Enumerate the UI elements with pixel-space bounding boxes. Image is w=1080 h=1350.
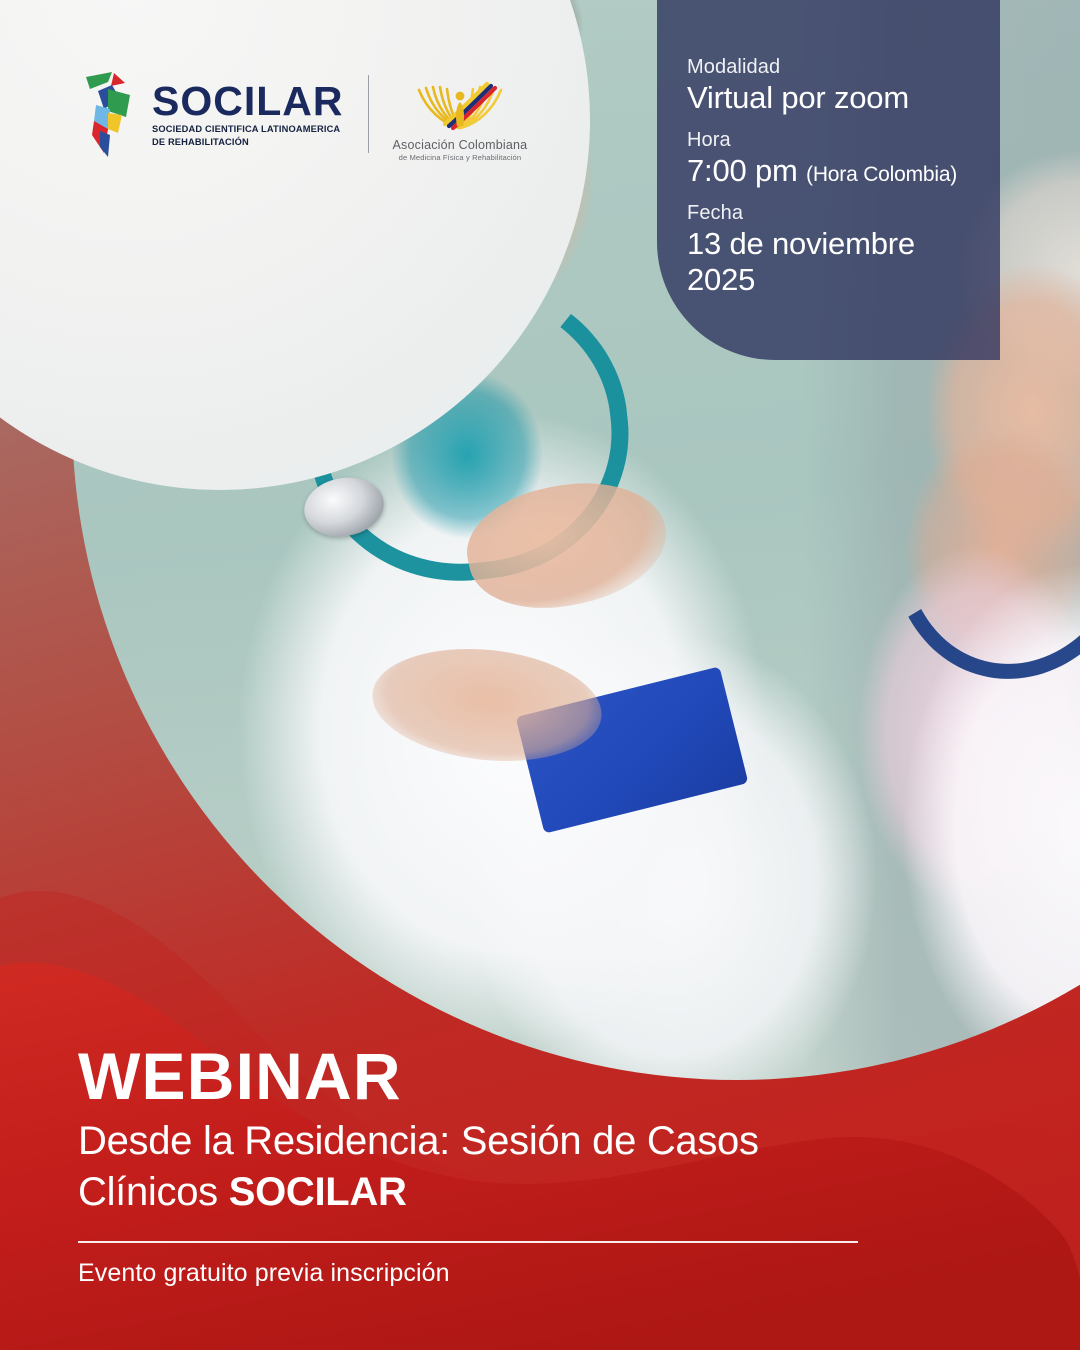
webinar-title-line2: Clínicos SOCILAR [78, 1169, 978, 1215]
hora-value: 7:00 pm (Hora Colombia) [687, 153, 1000, 189]
detail-hora: Hora 7:00 pm (Hora Colombia) [687, 128, 1000, 189]
socilar-logo: SOCILAR SOCIEDAD CIENTIFICA LATINOAMERIC… [78, 69, 344, 159]
fecha-day-month: 13 de noviembre [687, 226, 1000, 262]
title-line2-normal: Clínicos [78, 1170, 229, 1214]
partner-name: Asociación Colombiana [393, 138, 528, 152]
logo-lockup: SOCILAR SOCIEDAD CIENTIFICA LATINOAMERIC… [78, 66, 527, 162]
hora-timezone: (Hora Colombia) [806, 163, 957, 186]
logo-divider [368, 75, 369, 153]
latin-america-map-icon [78, 69, 144, 159]
hora-label: Hora [687, 128, 1000, 153]
registration-note: Evento gratuito previa inscripción [78, 1259, 978, 1288]
detail-fecha: Fecha 13 de noviembre 2025 [687, 201, 1000, 298]
webinar-kicker: WEBINAR [78, 1045, 978, 1108]
partner-subtitle: de Medicina Física y Rehabilitación [399, 153, 522, 162]
asociacion-colombiana-logo: Asociación Colombiana de Medicina Física… [393, 66, 528, 162]
fecha-value: 13 de noviembre 2025 [687, 226, 1000, 298]
socilar-wordmark: SOCILAR [152, 81, 344, 122]
socilar-tagline-2: DE REHABILITACIÓN [152, 138, 344, 147]
modalidad-label: Modalidad [687, 55, 1000, 80]
footer-rule [78, 1241, 858, 1243]
winged-figure-colombia-icon [401, 66, 519, 136]
webinar-poster: SOCILAR SOCIEDAD CIENTIFICA LATINOAMERIC… [0, 0, 1080, 1350]
fecha-label: Fecha [687, 201, 1000, 226]
socilar-tagline-1: SOCIEDAD CIENTIFICA LATINOAMERICA [152, 125, 344, 134]
detail-modalidad: Modalidad Virtual por zoom [687, 55, 1000, 116]
fecha-year: 2025 [687, 262, 1000, 298]
event-details-panel: Modalidad Virtual por zoom Hora 7:00 pm … [657, 0, 1000, 360]
modalidad-value: Virtual por zoom [687, 80, 1000, 116]
title-line2-bold: SOCILAR [229, 1170, 407, 1214]
webinar-title-line1: Desde la Residencia: Sesión de Casos [78, 1118, 978, 1164]
hora-time: 7:00 pm [687, 153, 798, 188]
footer-copy: WEBINAR Desde la Residencia: Sesión de C… [78, 1045, 978, 1288]
